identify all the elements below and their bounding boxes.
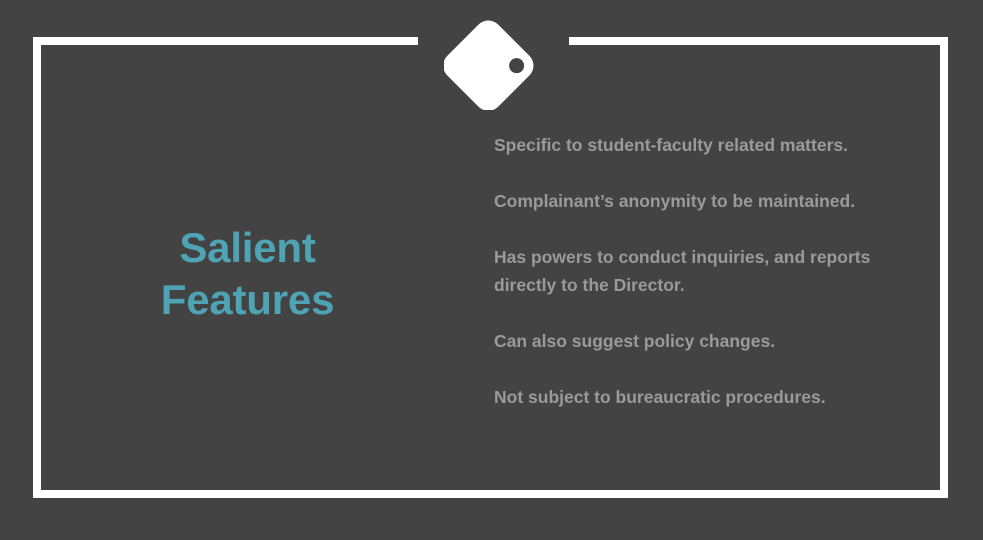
list-item: Not subject to bureaucratic procedures. bbox=[494, 383, 924, 411]
page-title: Salient Features bbox=[60, 222, 435, 326]
slide: Salient Features Specific to student-fac… bbox=[0, 0, 983, 540]
title-line-2: Features bbox=[60, 274, 435, 326]
salient-features-list: Specific to student-faculty related matt… bbox=[494, 131, 924, 411]
frame-border-right bbox=[940, 37, 948, 498]
frame-border-bottom bbox=[33, 490, 948, 498]
title-line-1: Salient bbox=[60, 222, 435, 274]
list-item: Complainant’s anonymity to be maintained… bbox=[494, 187, 924, 215]
list-item: Specific to student-faculty related matt… bbox=[494, 131, 924, 159]
frame-border-left bbox=[33, 37, 41, 498]
frame-border-top-left bbox=[33, 37, 418, 45]
tag-icon bbox=[444, 10, 544, 110]
list-item: Can also suggest policy changes. bbox=[494, 327, 924, 355]
frame-border-top-right bbox=[569, 37, 948, 45]
list-item: Has powers to conduct inquiries, and rep… bbox=[494, 243, 924, 299]
